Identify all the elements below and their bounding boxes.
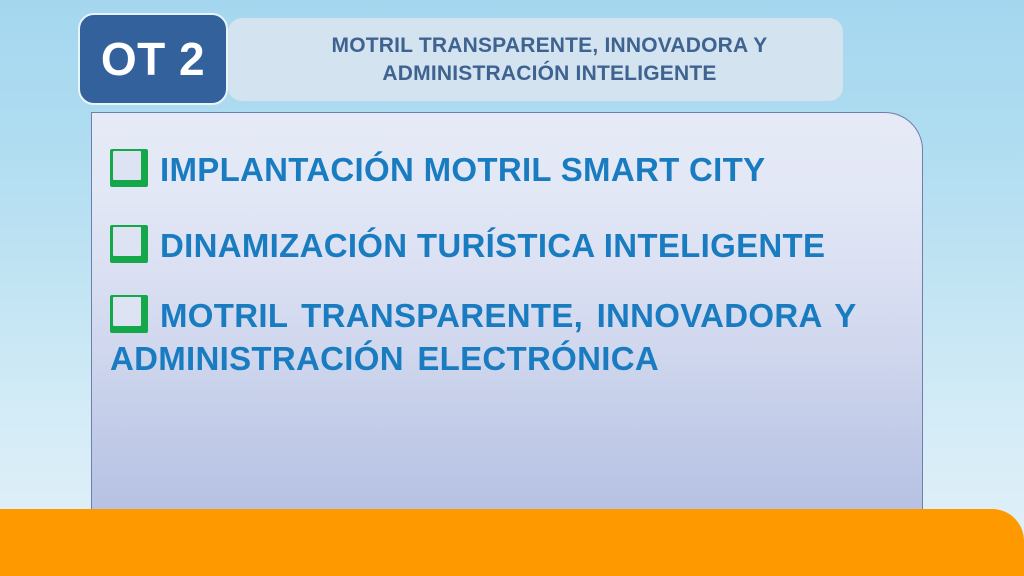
content-panel: IMPLANTACIÓN MOTRIL SMART CITY DINAMIZAC… [91,112,923,524]
header-bar: MOTRIL TRANSPARENTE, INNOVADORA Y ADMINI… [228,18,843,101]
list-item-label: DINAMIZACIÓN TURÍSTICA INTELIGENTE [160,227,825,264]
list-item-label: MOTRIL TRANSPARENTE, INNOVADORA Y ADMINI… [110,297,856,376]
bottom-accent-band [0,509,1024,576]
green-checkbox-icon [110,295,148,333]
page-title: MOTRIL TRANSPARENTE, INNOVADORA Y ADMINI… [278,32,821,87]
bullet-list: IMPLANTACIÓN MOTRIL SMART CITY DINAMIZAC… [92,113,922,380]
green-checkbox-icon [110,225,148,263]
slide-root: OT 2 MOTRIL TRANSPARENTE, INNOVADORA Y A… [0,0,1024,576]
list-item: MOTRIL TRANSPARENTE, INNOVADORA Y ADMINI… [110,295,904,379]
objective-badge-label: OT 2 [101,36,205,82]
list-item: DINAMIZACIÓN TURÍSTICA INTELIGENTE [110,225,904,267]
objective-badge: OT 2 [78,13,228,105]
list-item: IMPLANTACIÓN MOTRIL SMART CITY [110,149,904,191]
list-item-label: IMPLANTACIÓN MOTRIL SMART CITY [160,151,765,188]
green-checkbox-icon [110,149,148,187]
